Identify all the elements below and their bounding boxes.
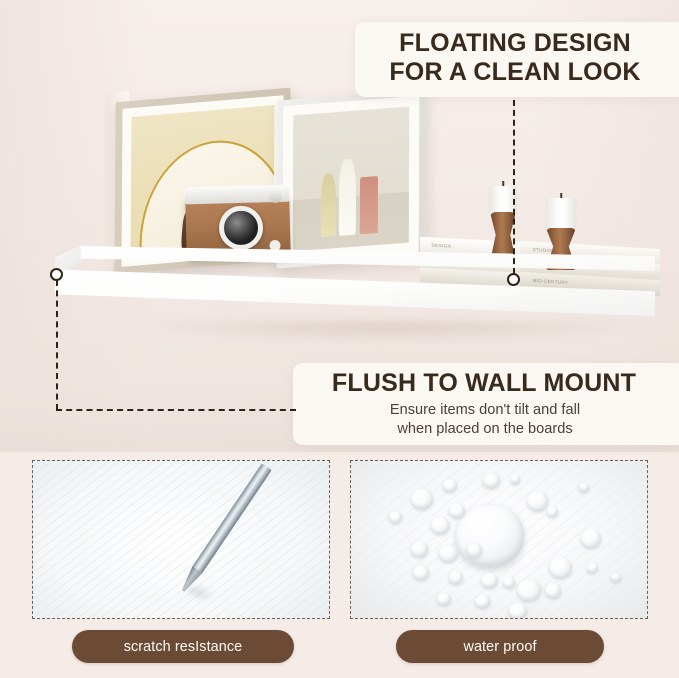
water-droplet (549, 557, 572, 578)
water-droplet (581, 529, 601, 548)
callout-connector-line-top (513, 100, 515, 274)
callout-connector-line-vertical (56, 280, 58, 410)
water-droplets-on-white-shelf-surface (351, 461, 647, 618)
water-droplet (511, 475, 520, 484)
feature-panel-water-proof (350, 460, 648, 619)
callout-headline: FLUSH TO WALL MOUNT (293, 363, 679, 398)
screwdriver-icon (175, 461, 275, 597)
water-droplet (545, 583, 561, 598)
water-droplet (483, 473, 500, 488)
water-droplet (611, 573, 621, 582)
callout-subtext-line2: when placed on the boards (307, 420, 663, 438)
badge-water-proof[interactable]: water proof (396, 630, 604, 663)
still-life-artwork (293, 107, 409, 252)
white-floating-wall-shelf (55, 246, 655, 338)
callout-headline-line2: FOR A CLEAN LOOK (367, 58, 663, 87)
callout-marker-dot-shelf-left (50, 268, 63, 281)
water-droplet (587, 563, 598, 573)
water-droplet-large (456, 505, 524, 567)
callout-headline-line1: FLOATING DESIGN (367, 29, 663, 58)
callout-card-floating-design: FLOATING DESIGN FOR A CLEAN LOOK (355, 22, 679, 97)
bottle-shape (360, 176, 378, 234)
water-droplet (467, 543, 482, 557)
bottle-shape (339, 158, 356, 235)
callout-headline-line1: FLUSH TO WALL MOUNT (303, 369, 665, 398)
water-droplet (503, 577, 515, 588)
water-droplet (481, 573, 498, 588)
water-droplet (389, 511, 402, 523)
feature-panel-scratch-resistance (32, 460, 330, 619)
callout-subtext: Ensure items don't tilt and fall when pl… (293, 398, 679, 438)
callout-headline: FLOATING DESIGN FOR A CLEAN LOOK (355, 22, 679, 88)
water-droplet (431, 517, 450, 534)
frame-mat (283, 96, 420, 262)
water-droplet (547, 507, 558, 517)
bottle-shape (321, 173, 336, 237)
water-droplet (517, 579, 541, 601)
screwdriver-tip-on-white-shelf-surface (33, 461, 329, 618)
water-droplet (413, 565, 429, 580)
water-droplet (443, 479, 457, 492)
water-droplet (449, 503, 465, 518)
shelf-drop-shadow (95, 322, 679, 352)
water-droplet (527, 491, 548, 511)
water-droplet (579, 483, 589, 492)
screwdriver-shaft (191, 463, 271, 574)
badge-label: water proof (463, 639, 536, 655)
water-droplet (449, 571, 463, 584)
water-droplet (411, 541, 428, 557)
water-droplet (439, 545, 458, 562)
callout-connector-line-horizontal (56, 409, 296, 411)
water-droplet (475, 595, 490, 608)
callout-subtext-line1: Ensure items don't tilt and fall (307, 401, 663, 419)
white-pillar-candle (546, 198, 577, 230)
badge-scratch-resistance[interactable]: scratch resIstance (72, 630, 294, 663)
water-droplet (411, 489, 433, 509)
framed-still-life-bottles-art-print (277, 89, 426, 268)
callout-card-flush-to-wall: FLUSH TO WALL MOUNT Ensure items don't t… (293, 363, 679, 445)
badge-label: scratch resIstance (124, 639, 243, 655)
water-droplet (509, 603, 527, 619)
callout-marker-dot-shelf-right (507, 273, 520, 286)
water-droplet (437, 593, 451, 605)
